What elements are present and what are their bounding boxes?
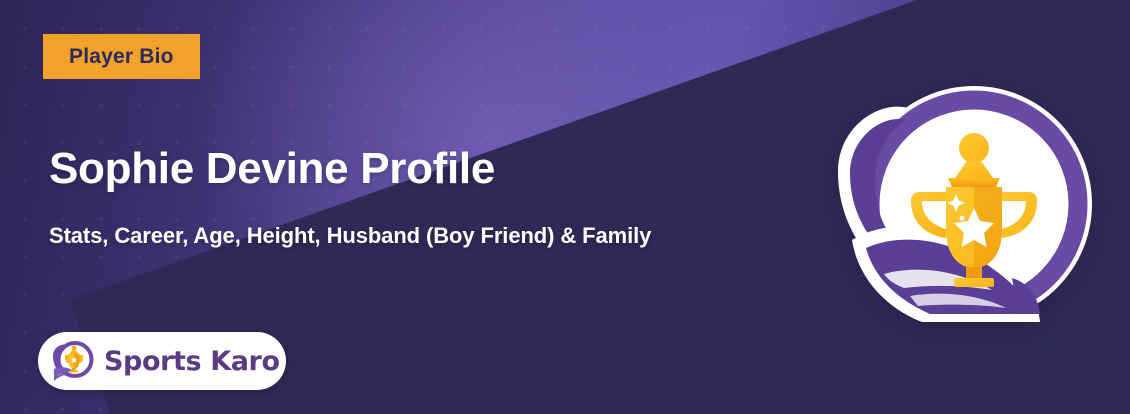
player-bio-banner: Player Bio Sophie Devine Profile Stats, … [0,0,1130,414]
site-logo[interactable]: Sports Karo [38,332,286,390]
page-subtitle: Stats, Career, Age, Height, Husband (Boy… [49,224,651,248]
site-logo-text: Sports Karo [104,348,280,375]
trophy-wing-emblem-icon [48,336,98,386]
page-title: Sophie Devine Profile [49,146,495,192]
player-bio-badge: Player Bio [43,34,200,79]
trophy-wing-emblem-large-icon [826,82,1094,350]
